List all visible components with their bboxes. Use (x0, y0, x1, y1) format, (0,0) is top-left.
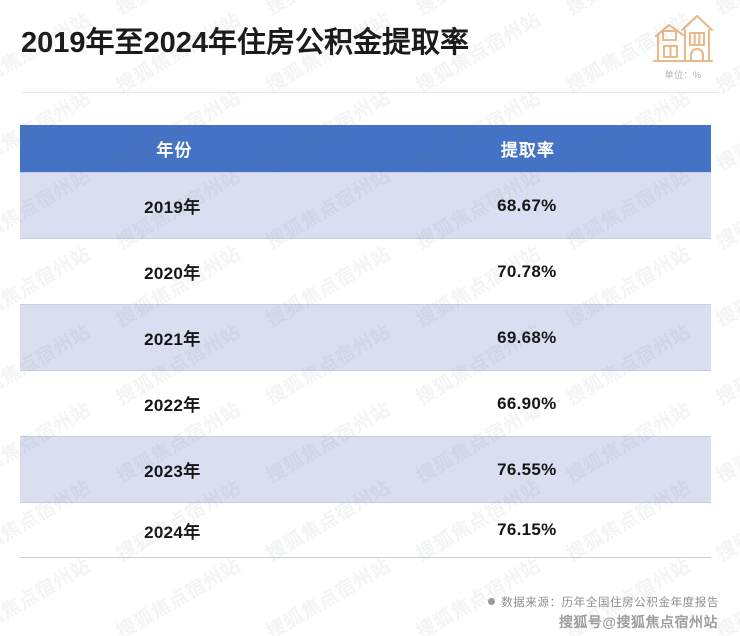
cell-rate: 66.90% (352, 371, 711, 437)
column-header-rate: 提取率 (352, 125, 711, 173)
data-source-note: 数据来源：历年全国住房公积金年度报告 (488, 594, 719, 610)
house-icon (652, 8, 714, 66)
table-row: 2024年76.15% (20, 503, 711, 558)
cell-rate: 76.15% (352, 503, 711, 558)
channel-watermark: 搜狐号@搜狐焦点宿州站 (559, 612, 718, 632)
watermark-text: 搜狐焦点宿州站 (711, 473, 740, 566)
table-header-row: 年份 提取率 (20, 125, 711, 173)
page-footer: 数据来源：历年全国住房公积金年度报告 搜狐号@搜狐焦点宿州站 (0, 588, 740, 636)
table-row: 2019年68.67% (20, 173, 711, 239)
cell-year: 2024年 (20, 503, 352, 558)
table-row: 2022年66.90% (20, 371, 711, 437)
house-badge: 单位：% (640, 8, 726, 81)
cell-rate: 68.67% (352, 173, 711, 239)
unit-label: 单位：% (640, 68, 726, 81)
table-row: 2023年76.55% (20, 437, 711, 503)
cell-year: 2022年 (20, 371, 352, 437)
table-row: 2021年69.68% (20, 305, 711, 371)
extraction-rate-table: 年份 提取率 2019年68.67%2020年70.78%2021年69.68%… (20, 125, 711, 558)
table-body: 2019年68.67%2020年70.78%2021年69.68%2022年66… (20, 173, 711, 558)
watermark-text: 搜狐焦点宿州站 (711, 239, 740, 332)
data-source-text: 数据来源：历年全国住房公积金年度报告 (501, 597, 719, 609)
watermark-text: 搜狐焦点宿州站 (711, 395, 740, 488)
column-header-year: 年份 (20, 125, 352, 173)
bullet-icon (488, 598, 495, 605)
cell-year: 2023年 (20, 437, 352, 503)
page-title: 2019年至2024年住房公积金提取率 (21, 19, 469, 61)
cell-year: 2019年 (20, 173, 352, 239)
cell-year: 2020年 (20, 239, 352, 305)
cell-rate: 76.55% (352, 437, 711, 503)
table-row: 2020年70.78% (20, 239, 711, 305)
cell-year: 2021年 (20, 305, 352, 371)
watermark-text: 搜狐焦点宿州站 (711, 161, 740, 254)
watermark-text: 搜狐焦点宿州站 (711, 317, 740, 410)
cell-rate: 70.78% (352, 239, 711, 305)
page-header: 2019年至2024年住房公积金提取率 (0, 0, 740, 93)
cell-rate: 69.68% (352, 305, 711, 371)
table-header: 年份 提取率 (20, 125, 711, 173)
watermark-text: 搜狐焦点宿州站 (711, 83, 740, 176)
header-divider (21, 92, 719, 93)
